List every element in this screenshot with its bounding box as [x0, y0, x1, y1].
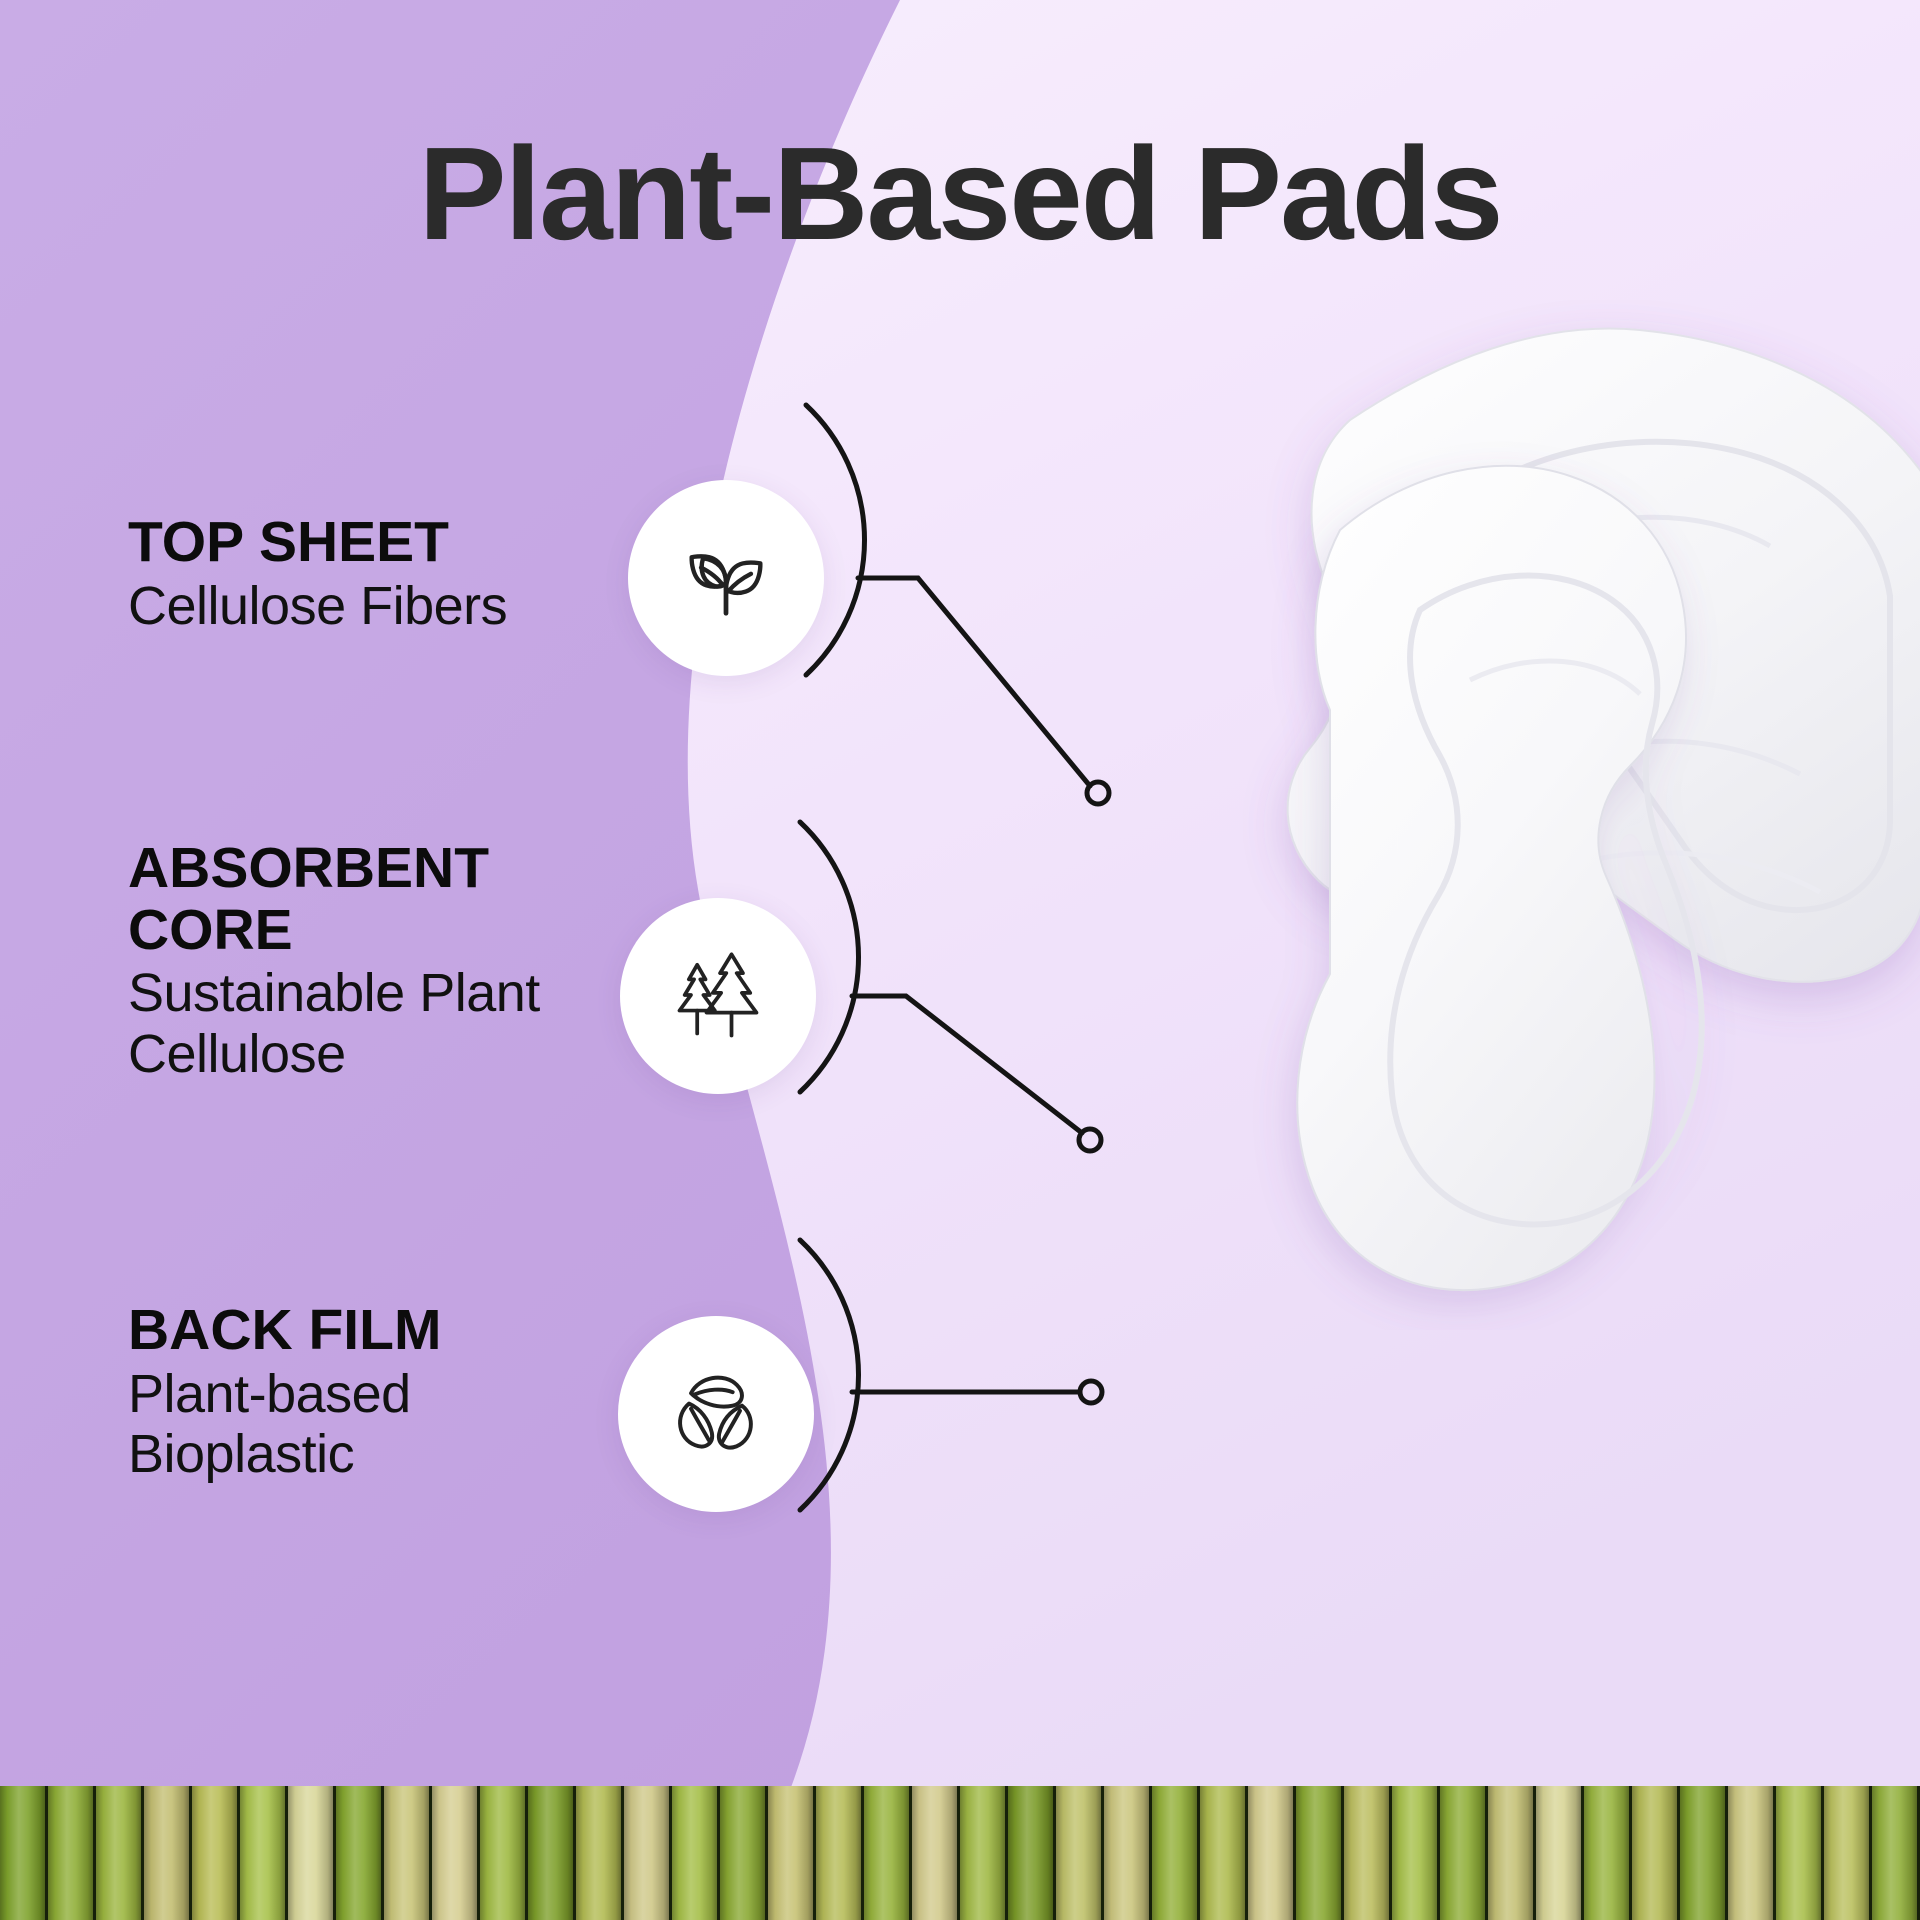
- bamboo-stalk: [384, 1786, 432, 1920]
- bamboo-stalk: [1296, 1786, 1344, 1920]
- bamboo-stalk: [1104, 1786, 1152, 1920]
- bamboo-stalk: [576, 1786, 624, 1920]
- feature-subtitle-back-film: Plant-based Bioplastic: [128, 1364, 598, 1485]
- bamboo-stalk: [624, 1786, 672, 1920]
- bamboo-stalk: [1392, 1786, 1440, 1920]
- bamboo-stalk: [1488, 1786, 1536, 1920]
- bamboo-stalk: [1248, 1786, 1296, 1920]
- bamboo-stalk: [1440, 1786, 1488, 1920]
- bamboo-stalk: [1008, 1786, 1056, 1920]
- bamboo-stalk: [1776, 1786, 1824, 1920]
- bamboo-stalk: [720, 1786, 768, 1920]
- bamboo-stalk: [48, 1786, 96, 1920]
- feature-label-back-film: BACK FILM Plant-based Bioplastic: [128, 1300, 598, 1484]
- bamboo-stalk: [192, 1786, 240, 1920]
- bamboo-stalk: [1872, 1786, 1920, 1920]
- feature-label-column: TOP SHEET Cellulose Fibers ABSORBENT COR…: [0, 0, 640, 1920]
- bamboo-stalk: [768, 1786, 816, 1920]
- feature-badge-top-sheet[interactable]: [628, 480, 824, 676]
- bamboo-stalk: [432, 1786, 480, 1920]
- feature-badge-back-film[interactable]: [618, 1316, 814, 1512]
- bamboo-stalk: [1152, 1786, 1200, 1920]
- bamboo-stalk: [1632, 1786, 1680, 1920]
- feature-title-top-sheet: TOP SHEET: [128, 512, 598, 574]
- bamboo-stalk: [480, 1786, 528, 1920]
- bamboo-stalk: [1056, 1786, 1104, 1920]
- bamboo-stalk: [288, 1786, 336, 1920]
- feature-label-absorbent-core: ABSORBENT CORE Sustainable Plant Cellulo…: [128, 838, 598, 1084]
- pine-trees-icon: [666, 944, 770, 1048]
- bamboo-stalk: [96, 1786, 144, 1920]
- bamboo-stalk: [960, 1786, 1008, 1920]
- bamboo-stalk: [1584, 1786, 1632, 1920]
- bamboo-footer-band: [0, 1786, 1920, 1920]
- bamboo-stalk: [1536, 1786, 1584, 1920]
- sprout-leaf-icon: [674, 526, 778, 630]
- feature-title-absorbent-core: ABSORBENT CORE: [128, 838, 598, 961]
- feature-subtitle-absorbent-core: Sustainable Plant Cellulose: [128, 963, 598, 1084]
- bamboo-stalk: [816, 1786, 864, 1920]
- leaf-recycle-icon: [664, 1362, 768, 1466]
- bamboo-stalk: [1200, 1786, 1248, 1920]
- bamboo-stalk: [1680, 1786, 1728, 1920]
- bamboo-stalk: [144, 1786, 192, 1920]
- bamboo-stalk: [912, 1786, 960, 1920]
- bamboo-stalk: [864, 1786, 912, 1920]
- feature-title-back-film: BACK FILM: [128, 1300, 598, 1362]
- bamboo-stalk: [672, 1786, 720, 1920]
- bamboo-stalk: [1824, 1786, 1872, 1920]
- infographic-root: Plant-Based Pads: [0, 0, 1920, 1920]
- bamboo-stalk: [336, 1786, 384, 1920]
- feature-label-top-sheet: TOP SHEET Cellulose Fibers: [128, 512, 598, 636]
- bamboo-stalk: [1728, 1786, 1776, 1920]
- bamboo-stalk: [0, 1786, 48, 1920]
- bamboo-stalk: [240, 1786, 288, 1920]
- bamboo-stalk: [528, 1786, 576, 1920]
- feature-subtitle-top-sheet: Cellulose Fibers: [128, 576, 598, 636]
- feature-badge-absorbent-core[interactable]: [620, 898, 816, 1094]
- product-image-pads: [880, 300, 1920, 1330]
- bamboo-stalk: [1344, 1786, 1392, 1920]
